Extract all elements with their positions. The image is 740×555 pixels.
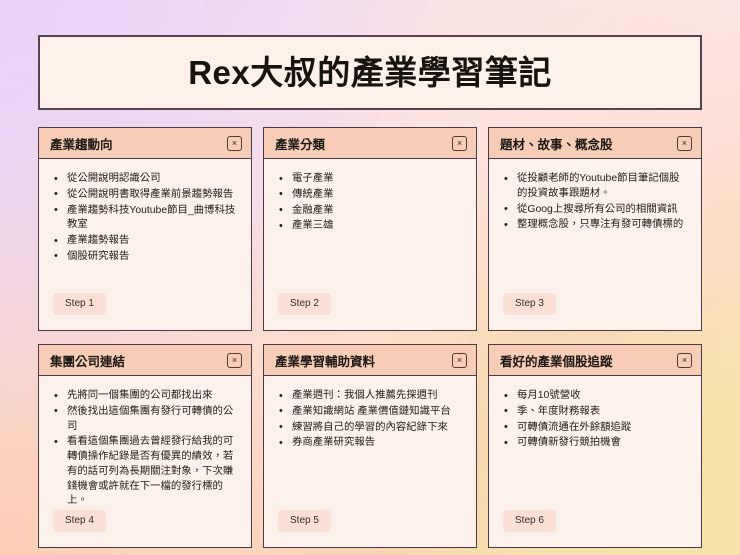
step-badge: Step 4 bbox=[53, 510, 106, 532]
list-item: 可轉債新發行競拍機會 bbox=[503, 436, 689, 451]
close-icon[interactable]: × bbox=[677, 353, 692, 368]
note-card-footer-4: Step 4 bbox=[53, 510, 239, 541]
note-card-bullets-1: 從公開說明認識公司 從公開說明書取得產業前景趨勢報告 產業趨勢科技Youtube… bbox=[53, 172, 239, 266]
list-item: 先將同一個集團的公司都找出來 bbox=[53, 389, 239, 404]
note-card-header-4: 集團公司連結 × bbox=[39, 345, 251, 376]
page-root: Rex大叔的產業學習筆記 產業趨動向 × 從公開說明認識公司 從公開說明書取得產… bbox=[0, 0, 740, 555]
note-card-body-6: 每月10號營收 季、年度財務報表 可轉債流通在外餘額追蹤 可轉債新發行競拍機會 … bbox=[489, 376, 701, 547]
note-card-1[interactable]: 產業趨動向 × 從公開說明認識公司 從公開說明書取得產業前景趨勢報告 產業趨勢科… bbox=[38, 127, 252, 331]
list-item: 從公開說明書取得產業前景趨勢報告 bbox=[53, 188, 239, 203]
note-card-title-6: 看好的產業個股追蹤 bbox=[500, 351, 613, 370]
list-item: 從Goog上搜尋所有公司的相關資訊 bbox=[503, 203, 689, 218]
page-title-box: Rex大叔的產業學習筆記 bbox=[38, 35, 702, 110]
note-card-body-2: 電子產業 傳統產業 金融產業 產業三雄 Step 2 bbox=[264, 159, 476, 330]
step-badge: Step 3 bbox=[503, 293, 556, 315]
note-card-title-3: 題材、故事、概念股 bbox=[500, 134, 613, 153]
list-item: 金融產業 bbox=[278, 204, 464, 219]
note-card-4[interactable]: 集團公司連結 × 先將同一個集團的公司都找出來 然後找出這個集團有發行可轉債的公… bbox=[38, 344, 252, 548]
note-card-header-1: 產業趨動向 × bbox=[39, 128, 251, 159]
note-card-title-4: 集團公司連結 bbox=[50, 351, 125, 370]
note-card-title-5: 產業學習輔助資料 bbox=[275, 351, 375, 370]
note-card-header-5: 產業學習輔助資料 × bbox=[264, 345, 476, 376]
close-icon[interactable]: × bbox=[677, 136, 692, 151]
step-badge: Step 2 bbox=[278, 293, 331, 315]
note-card-body-4: 先將同一個集團的公司都找出來 然後找出這個集團有發行可轉債的公司 看看這個集團過… bbox=[39, 376, 251, 547]
note-card-bullets-2: 電子產業 傳統產業 金融產業 產業三雄 bbox=[278, 172, 464, 235]
note-card-body-5: 產業週刊：我個人推薦先探週刊 產業知識網站 產業價值鏈知識平台 練習將自己的學習… bbox=[264, 376, 476, 547]
note-card-footer-3: Step 3 bbox=[503, 293, 689, 324]
note-card-footer-2: Step 2 bbox=[278, 293, 464, 324]
list-item: 季、年度財務報表 bbox=[503, 405, 689, 420]
note-card-body-3: 從投顧老師的Youtube節目筆記個股的投資故事跟題材。 從Goog上搜尋所有公… bbox=[489, 159, 701, 330]
list-item: 個股研究報告 bbox=[53, 250, 239, 265]
list-item: 產業趨勢科技Youtube節目_曲博科技教室 bbox=[53, 204, 239, 234]
note-card-title-1: 產業趨動向 bbox=[50, 134, 113, 153]
note-card-footer-6: Step 6 bbox=[503, 510, 689, 541]
step-badge: Step 6 bbox=[503, 510, 556, 532]
list-item: 每月10號營收 bbox=[503, 389, 689, 404]
page-title: Rex大叔的產業學習筆記 bbox=[188, 56, 552, 89]
note-card-body-1: 從公開說明認識公司 從公開說明書取得產業前景趨勢報告 產業趨勢科技Youtube… bbox=[39, 159, 251, 330]
list-item: 從投顧老師的Youtube節目筆記個股的投資故事跟題材。 bbox=[503, 172, 689, 202]
note-card-bullets-4: 先將同一個集團的公司都找出來 然後找出這個集團有發行可轉債的公司 看看這個集團過… bbox=[53, 389, 239, 510]
note-card-6[interactable]: 看好的產業個股追蹤 × 每月10號營收 季、年度財務報表 可轉債流通在外餘額追蹤… bbox=[488, 344, 702, 548]
list-item: 整理概念股，只專注有發可轉債標的 bbox=[503, 218, 689, 233]
note-card-bullets-6: 每月10號營收 季、年度財務報表 可轉債流通在外餘額追蹤 可轉債新發行競拍機會 bbox=[503, 389, 689, 452]
list-item: 產業趨勢報告 bbox=[53, 234, 239, 249]
step-badge: Step 5 bbox=[278, 510, 331, 532]
step-badge: Step 1 bbox=[53, 293, 106, 315]
note-card-bullets-5: 產業週刊：我個人推薦先探週刊 產業知識網站 產業價值鏈知識平台 練習將自己的學習… bbox=[278, 389, 464, 452]
close-icon[interactable]: × bbox=[227, 136, 242, 151]
note-card-title-2: 產業分類 bbox=[275, 134, 325, 153]
list-item: 傳統產業 bbox=[278, 188, 464, 203]
note-card-header-2: 產業分類 × bbox=[264, 128, 476, 159]
note-card-5[interactable]: 產業學習輔助資料 × 產業週刊：我個人推薦先探週刊 產業知識網站 產業價值鏈知識… bbox=[263, 344, 477, 548]
list-item: 電子產業 bbox=[278, 172, 464, 187]
list-item: 從公開說明認識公司 bbox=[53, 172, 239, 187]
list-item: 產業知識網站 產業價值鏈知識平台 bbox=[278, 405, 464, 420]
close-icon[interactable]: × bbox=[452, 353, 467, 368]
list-item: 產業週刊：我個人推薦先探週刊 bbox=[278, 389, 464, 404]
close-icon[interactable]: × bbox=[227, 353, 242, 368]
note-card-footer-1: Step 1 bbox=[53, 293, 239, 324]
list-item: 然後找出這個集團有發行可轉債的公司 bbox=[53, 405, 239, 435]
notes-card-grid: 產業趨動向 × 從公開說明認識公司 從公開說明書取得產業前景趨勢報告 產業趨勢科… bbox=[38, 127, 702, 548]
list-item: 可轉債流通在外餘額追蹤 bbox=[503, 421, 689, 436]
note-card-2[interactable]: 產業分類 × 電子產業 傳統產業 金融產業 產業三雄 Step 2 bbox=[263, 127, 477, 331]
note-card-header-6: 看好的產業個股追蹤 × bbox=[489, 345, 701, 376]
close-icon[interactable]: × bbox=[452, 136, 467, 151]
note-card-bullets-3: 從投顧老師的Youtube節目筆記個股的投資故事跟題材。 從Goog上搜尋所有公… bbox=[503, 172, 689, 234]
note-card-footer-5: Step 5 bbox=[278, 510, 464, 541]
list-item: 看看這個集團過去曾經發行給我的可轉債操作紀錄是否有優異的績效，若有的話可列為長期… bbox=[53, 435, 239, 509]
note-card-header-3: 題材、故事、概念股 × bbox=[489, 128, 701, 159]
list-item: 產業三雄 bbox=[278, 219, 464, 234]
list-item: 練習將自己的學習的內容紀錄下來 bbox=[278, 421, 464, 436]
note-card-3[interactable]: 題材、故事、概念股 × 從投顧老師的Youtube節目筆記個股的投資故事跟題材。… bbox=[488, 127, 702, 331]
list-item: 券商產業研究報告 bbox=[278, 436, 464, 451]
